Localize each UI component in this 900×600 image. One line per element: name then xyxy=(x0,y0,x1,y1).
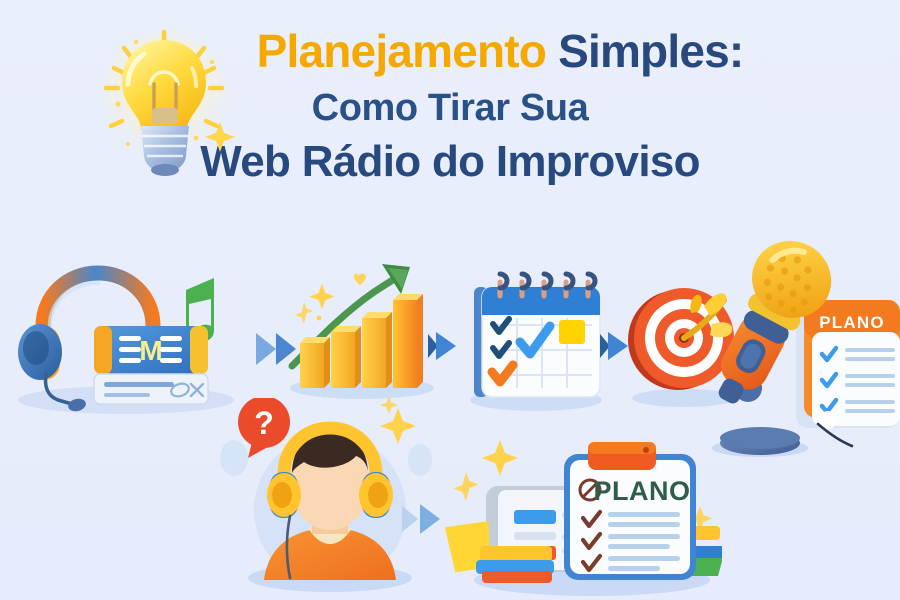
svg-text:PLANO: PLANO xyxy=(819,313,885,332)
svg-text:?: ? xyxy=(254,405,274,441)
microphone-plan-illustration: PLANO xyxy=(700,240,900,465)
poster-canvas: Planejamento Simples: Como Tirar Sua Web… xyxy=(0,0,900,600)
plano-card-graphic: PLANO xyxy=(796,300,900,429)
svg-text:PLANO: PLANO xyxy=(594,476,691,506)
plano-clipboard-illustration: PLANO xyxy=(442,428,722,600)
headset-mixer-illustration: M xyxy=(8,248,258,423)
headline-word-planejamento: Planejamento xyxy=(257,25,547,77)
headline-word-simples: Simples: xyxy=(558,25,743,77)
growth-bar-chart-illustration xyxy=(270,248,445,418)
svg-text:M: M xyxy=(139,335,162,366)
lightbulb-icon xyxy=(92,26,242,196)
